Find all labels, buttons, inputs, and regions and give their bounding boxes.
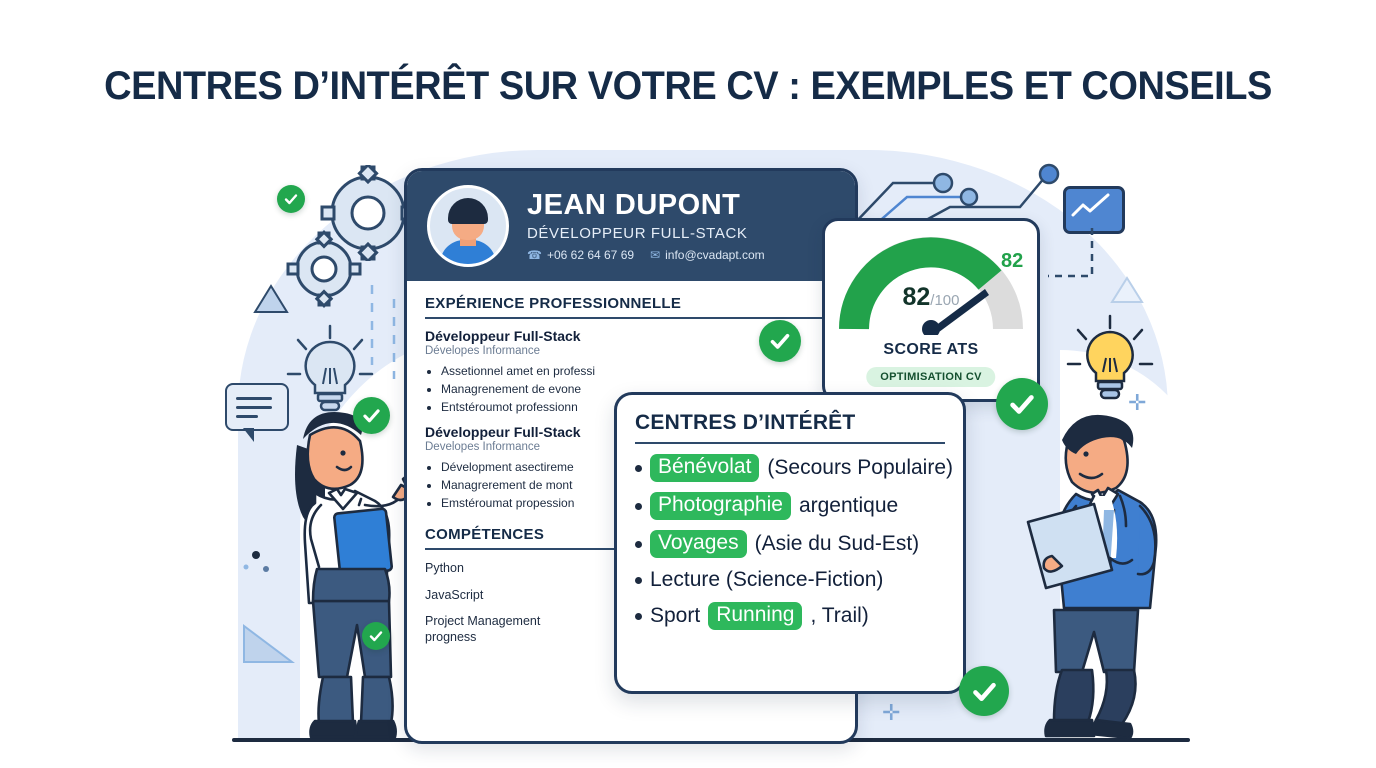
avatar	[427, 185, 509, 267]
list-item: Sport Running , Trail)	[635, 602, 945, 630]
cv-role: DÉVELOPPEUR FULL-STACK	[527, 225, 765, 242]
bullet-dot	[635, 577, 642, 584]
item-rest: , Trail)	[810, 604, 868, 628]
check-badge-icon	[362, 622, 390, 650]
bullet-dot	[635, 503, 642, 510]
bullet-dot	[635, 465, 642, 472]
check-badge-icon	[996, 378, 1048, 430]
check-badge-icon	[959, 666, 1009, 716]
infographic-canvas: CENTRES D’INTÉRÊT SUR VOTRE CV : EXEMPLE…	[0, 0, 1376, 768]
ats-label: SCORE ATS	[825, 341, 1037, 359]
cv-header: JEAN DUPONT DÉVELOPPEUR FULL-STACK ☎ +06…	[407, 171, 855, 281]
ats-score-outside: 82	[1001, 250, 1023, 273]
triangle-icon	[253, 283, 289, 315]
list-item: Voyages (Asie du Sud-Est)	[635, 530, 945, 558]
page-title: CENTRES D’INTÉRÊT SUR VOTRE CV : EXEMPLE…	[34, 64, 1341, 109]
interests-card: CENTRES D’INTÉRÊT Bénévolat (Secours Pop…	[614, 392, 966, 694]
keyword-highlight: Photographie	[650, 492, 791, 520]
item-rest: (Secours Populaire)	[767, 456, 953, 480]
bullet-dot	[635, 541, 642, 548]
item-rest: argentique	[799, 494, 898, 518]
ats-score-value: 82/100	[825, 283, 1037, 312]
skill-name: Project Management progness	[425, 614, 555, 645]
list-item: Bénévolat (Secours Populaire)	[635, 454, 945, 482]
cv-email: ✉ info@cvadapt.com	[650, 248, 765, 262]
item-rest: Lecture (Science-Fiction)	[650, 568, 883, 592]
triangle-icon	[1110, 275, 1144, 305]
bullet-dot	[635, 613, 642, 620]
check-badge-icon	[759, 320, 801, 362]
job-bullet: Assetionnel amet en professi	[441, 362, 837, 380]
interests-list: Bénévolat (Secours Populaire) Photograph…	[635, 454, 945, 630]
ats-badge: OPTIMISATION CV	[866, 367, 995, 387]
keyword-highlight: Voyages	[650, 530, 747, 558]
phone-icon: ☎	[527, 248, 542, 262]
item-prefix: Sport	[650, 604, 700, 628]
cv-name: JEAN DUPONT	[527, 190, 765, 222]
keyword-highlight: Bénévolat	[650, 454, 759, 482]
interests-title: CENTRES D’INTÉRÊT	[635, 411, 945, 444]
check-badge-icon	[277, 185, 305, 213]
check-badge-icon	[353, 397, 390, 434]
list-item: Photographie argentique	[635, 492, 945, 520]
experience-heading: EXPÉRIENCE PROFESSIONNELLE	[425, 295, 837, 319]
envelope-icon: ✉	[650, 248, 660, 262]
skill-name: JavaScript	[425, 588, 483, 604]
skill-name: Python	[425, 561, 464, 577]
gear-icon	[285, 230, 363, 308]
ats-score-card: 82/100 SCORE ATS OPTIMISATION CV	[822, 218, 1040, 402]
keyword-highlight: Running	[708, 602, 802, 630]
line-chart-icon	[1063, 186, 1125, 234]
item-rest: (Asie du Sud-Est)	[755, 532, 920, 556]
cv-phone: ☎ +06 62 64 67 69	[527, 248, 634, 262]
list-item: Lecture (Science-Fiction)	[635, 568, 945, 592]
sparkle-icon: ✛	[882, 702, 900, 724]
man-with-tablet-illustration	[1010, 398, 1178, 740]
